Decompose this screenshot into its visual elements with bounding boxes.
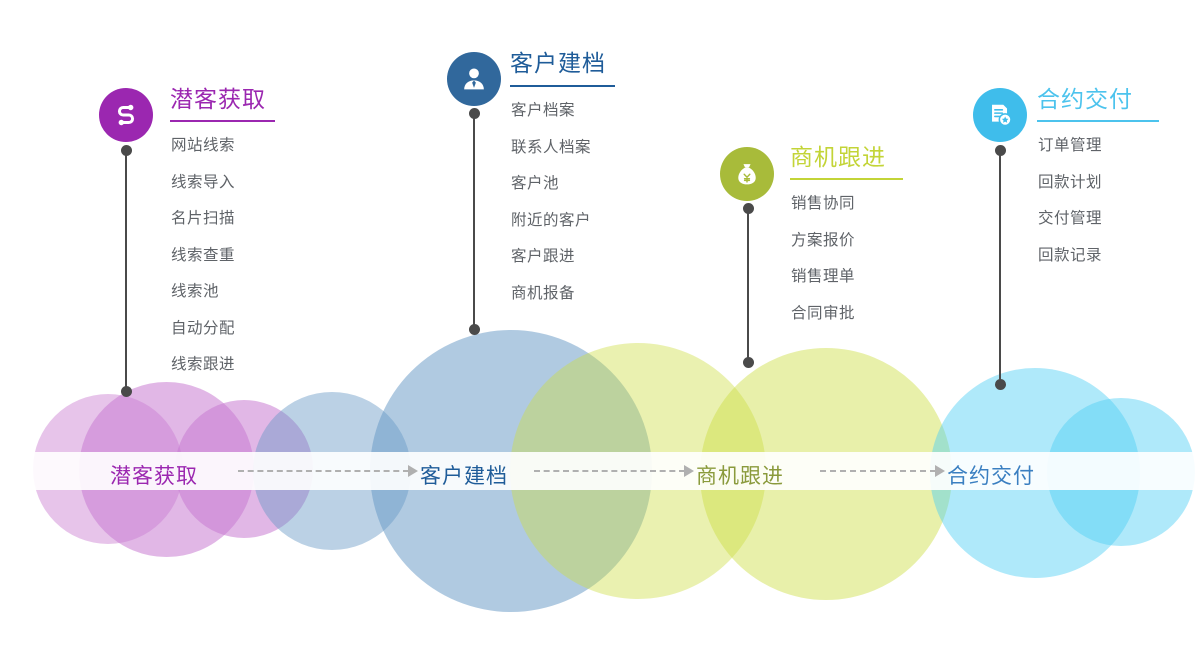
stage-customer-underline (510, 85, 615, 87)
flow-label-contract[interactable]: 合约交付 (947, 460, 1035, 490)
list-item[interactable]: 名片扫描 (171, 211, 235, 227)
person-tie-icon (447, 52, 501, 106)
list-item[interactable]: 网站线索 (171, 138, 235, 154)
list-item[interactable]: 方案报价 (791, 233, 855, 249)
flow-label-lead[interactable]: 潜客获取 (110, 460, 198, 490)
list-item[interactable]: 回款计划 (1038, 175, 1102, 191)
stage-lead-underline (170, 120, 275, 122)
stage-lead-heading: 潜客获取 (170, 88, 266, 111)
list-item[interactable]: 交付管理 (1038, 211, 1102, 227)
stage-opportunity-items: 销售协同 方案报价 销售理单 合同审批 (791, 196, 855, 342)
list-item[interactable]: 自动分配 (171, 321, 235, 337)
document-star-icon (973, 88, 1027, 142)
list-item[interactable]: 线索池 (171, 284, 235, 300)
list-item[interactable]: 回款记录 (1038, 248, 1102, 264)
stage-customer-items: 客户档案 联系人档案 客户池 附近的客户 客户跟进 商机报备 (511, 103, 591, 322)
list-item[interactable]: 客户跟进 (511, 249, 591, 265)
list-item[interactable]: 联系人档案 (511, 140, 591, 156)
stage-contract-underline (1037, 120, 1159, 122)
arrow-1 (238, 466, 418, 476)
list-item[interactable]: 销售理单 (791, 269, 855, 285)
money-bag-icon (720, 147, 774, 201)
flow-strip: 潜客获取 客户建档 商机跟进 合约交付 (0, 452, 1200, 490)
list-item[interactable]: 商机报备 (511, 286, 591, 302)
flow-label-opportunity[interactable]: 商机跟进 (696, 460, 784, 490)
stage-contract-heading: 合约交付 (1037, 88, 1133, 111)
stage-customer-heading: 客户建档 (510, 52, 606, 75)
stage-opportunity-heading: 商机跟进 (790, 146, 886, 169)
list-item[interactable]: 线索跟进 (171, 357, 235, 373)
list-item[interactable]: 客户池 (511, 176, 591, 192)
list-item[interactable]: 线索查重 (171, 248, 235, 264)
arrow-2 (534, 466, 694, 476)
list-item[interactable]: 销售协同 (791, 196, 855, 212)
stage-contract-items: 订单管理 回款计划 交付管理 回款记录 (1038, 138, 1102, 284)
list-item[interactable]: 订单管理 (1038, 138, 1102, 154)
stage-opportunity-underline (790, 178, 903, 180)
arrow-3 (820, 466, 945, 476)
stage-lead-items: 网站线索 线索导入 名片扫描 线索查重 线索池 自动分配 线索跟进 (171, 138, 235, 394)
list-item[interactable]: 客户档案 (511, 103, 591, 119)
list-item[interactable]: 合同审批 (791, 306, 855, 322)
flow-label-customer[interactable]: 客户建档 (420, 460, 508, 490)
list-item[interactable]: 附近的客户 (511, 213, 591, 229)
list-item[interactable]: 线索导入 (171, 175, 235, 191)
infographic-canvas: 潜客获取 网站线索 线索导入 名片扫描 线索查重 线索池 自动分配 线索跟进 客… (0, 0, 1200, 666)
lead-network-icon (99, 88, 153, 142)
